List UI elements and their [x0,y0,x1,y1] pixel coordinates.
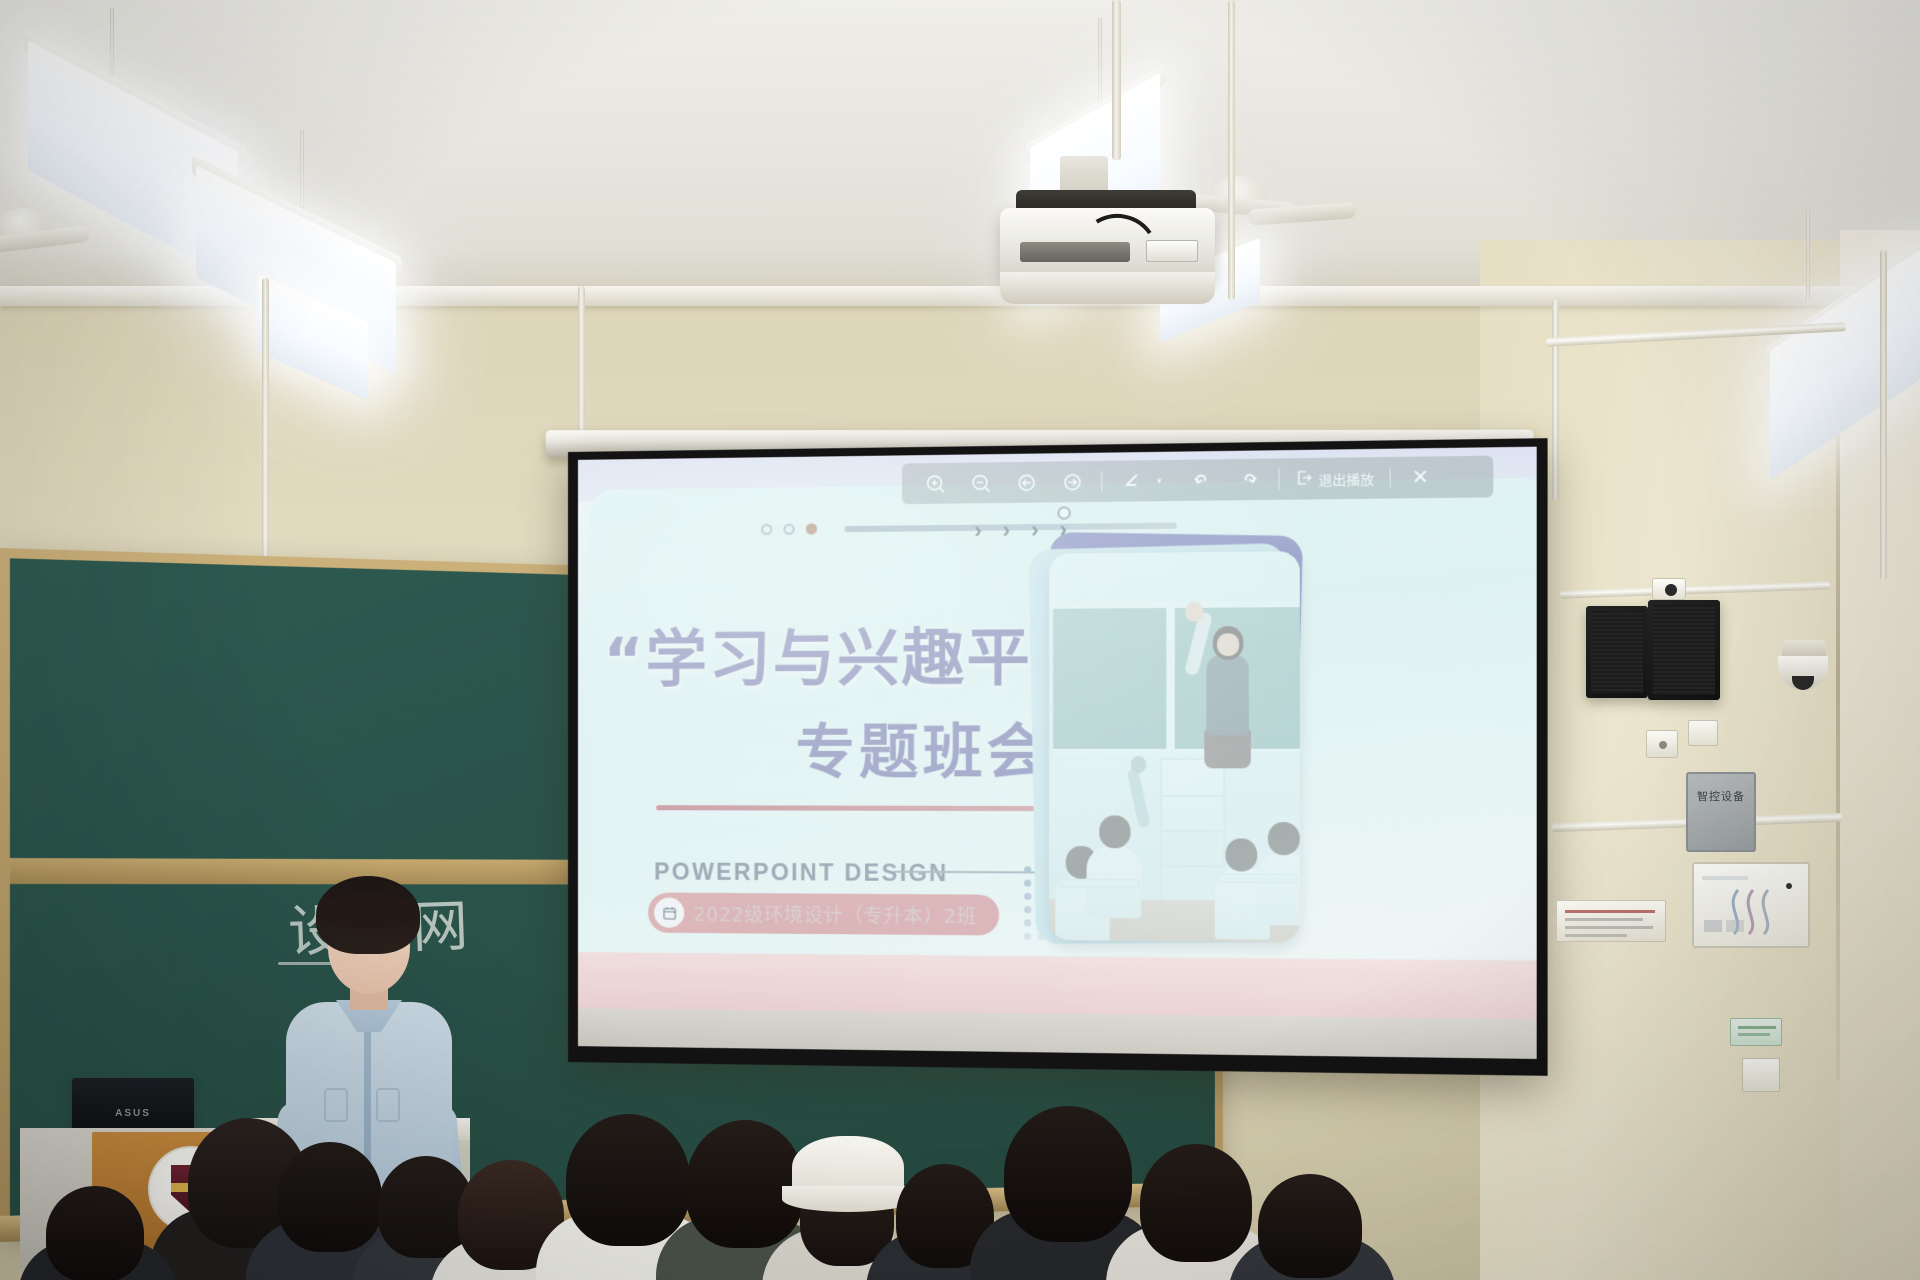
chevron-icon: › [1003,517,1011,544]
chevron-icon: › [974,517,982,544]
teacher-face [1217,633,1239,656]
presenter-hair-fringe [320,894,416,928]
toolbar-divider [1389,467,1390,488]
close-icon[interactable]: ✕ [1397,456,1444,498]
student-head [46,1186,144,1280]
outlet-plug [1665,584,1677,596]
toolbar-divider [1278,469,1279,490]
student-head [1004,1106,1132,1242]
smart-control-box-label: 智控设备 [1688,788,1754,804]
previous-page-icon[interactable] [1003,462,1049,503]
screen-surface[interactable]: › › › › “学习与兴趣平衡” 专题班会 POWERPOINT DESIGN [578,447,1537,1059]
power-outlet-top [1652,578,1686,600]
class-badge-label: 2022级环境设计（专升本）2班 [693,899,976,928]
undo-icon[interactable] [1178,459,1224,501]
student-head [566,1114,690,1246]
wall-speaker-left [1586,606,1648,698]
zoom-out-icon[interactable] [958,462,1004,503]
cabinet-line [1162,865,1223,867]
photo-board-divider [1166,608,1174,749]
exit-presentation-button[interactable]: 退出播放 [1285,463,1382,493]
redo-icon[interactable] [1225,459,1272,501]
notice-text-lines [1557,901,1667,943]
progress-dot [783,524,794,535]
projection-screen[interactable]: › › › › “学习与兴趣平衡” 专题班会 POWERPOINT DESIGN [568,438,1548,1076]
wall-plate [1688,720,1718,746]
conduit-pipe [1552,300,1559,500]
speaker-grille [1653,605,1715,695]
conduit-pipe [1112,0,1121,160]
photo-desk [1059,879,1139,889]
presentation-toolbar[interactable]: ▾ [902,456,1493,505]
light-rod [300,130,304,218]
teacher-torso [1206,655,1248,735]
student-head [1140,1144,1252,1262]
student-head [1268,822,1300,855]
wall-speaker-right [1648,600,1720,700]
conduit-pipe [262,278,269,578]
class-badge: 2022级环境设计（专升本）2班 [648,893,1000,936]
chevron-icon: › [1031,517,1039,544]
bucket-hat-brim [782,1186,914,1212]
pen-tool-icon[interactable] [1109,460,1155,502]
student-head [1258,1174,1362,1278]
wall-info-panel [1692,862,1810,948]
student-head [686,1120,804,1248]
student-audience [0,1040,1920,1280]
zoom-in-icon[interactable] [912,463,957,504]
conduit-pipe [1228,0,1235,300]
progress-dot [761,524,772,535]
title-underline-rule [656,805,1092,811]
classroom-scene: 设计网 › › › › [0,0,1920,1280]
toolbar-divider [1101,471,1102,492]
cabinet-line [1162,830,1223,832]
student-head [1099,815,1130,848]
chevron-down-icon[interactable]: ▾ [1157,475,1162,486]
outlet-socket [1659,741,1667,749]
student-head [1225,838,1257,871]
smart-control-box: 智控设备 [1686,772,1756,852]
teacher-raised-hand [1185,602,1203,622]
student-head [278,1142,382,1252]
exit-presentation-label: 退出播放 [1318,468,1374,488]
calendar-icon [654,898,684,928]
conduit-pipe [1880,250,1887,580]
cabinet-line [1162,795,1223,797]
photo-blackboard [1053,601,1300,756]
panel-wave-graphic [1694,864,1812,950]
student-hand [1131,756,1147,773]
slide-photo-stack [1039,541,1304,944]
student-body [1257,853,1300,926]
slide-canvas: › › › › “学习与兴趣平衡” 专题班会 POWERPOINT DESIGN [578,447,1537,1059]
exit-icon [1294,468,1313,490]
photo-desk [1217,873,1298,883]
classroom-photo [1049,551,1300,942]
decorative-chevron-row-top: › › › › [974,517,1067,544]
toolbar-handle-dot[interactable] [1057,506,1071,519]
progress-dot-active [806,523,817,534]
power-outlet-lower [1646,730,1678,758]
speaker-grille [1591,611,1643,693]
slide-subtitle-en: POWERPOINT DESIGN [654,858,949,887]
next-page-icon[interactable] [1049,461,1095,503]
light-rod [1806,210,1810,306]
wall-notice-plate [1556,900,1666,942]
